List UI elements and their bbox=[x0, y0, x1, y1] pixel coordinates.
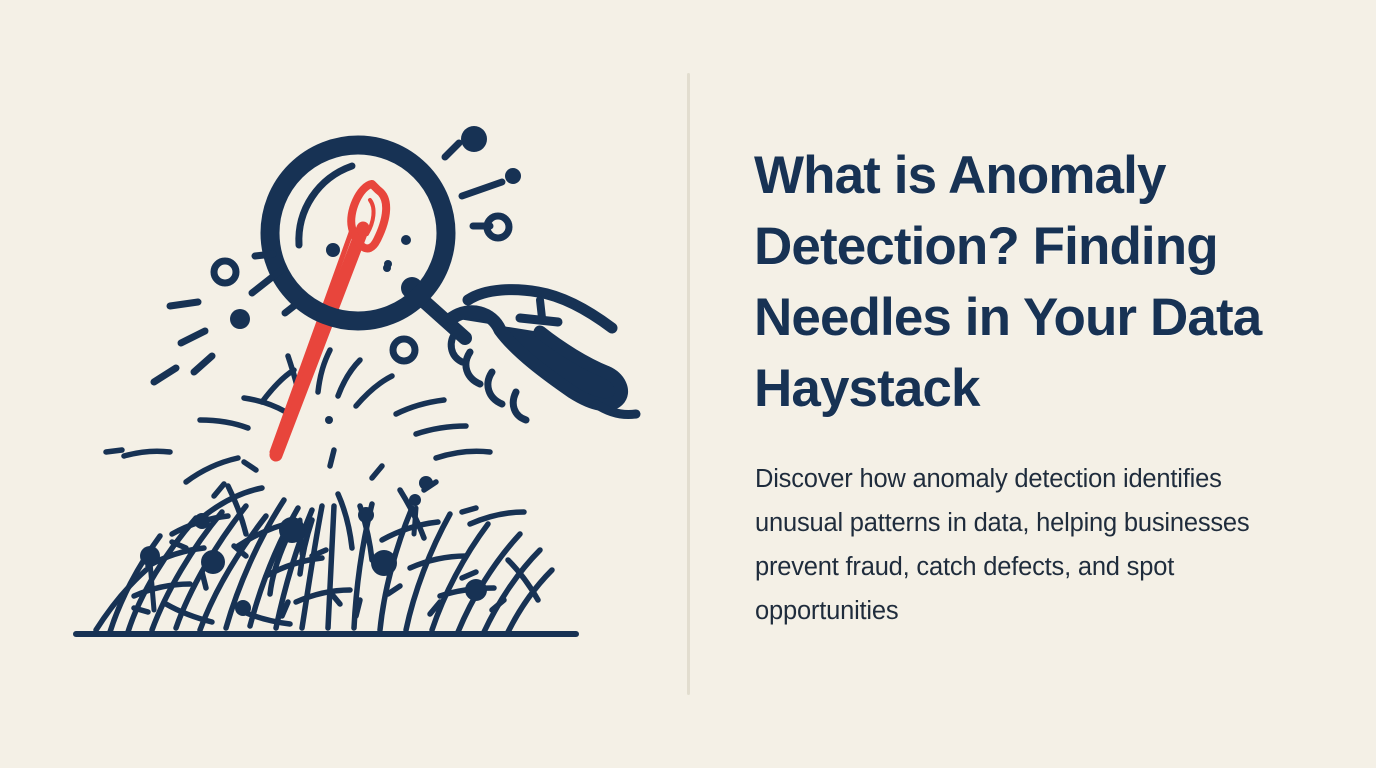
vertical-divider bbox=[687, 73, 690, 695]
magnifying-glass-needle-haystack-illustration bbox=[0, 0, 688, 768]
magnifier-highlight-arc bbox=[299, 166, 352, 245]
hand-holding-handle bbox=[451, 290, 636, 420]
page-subtitle: Discover how anomaly detection identifie… bbox=[755, 457, 1290, 633]
needle-eye bbox=[351, 184, 386, 248]
hero-card: What is Anomaly Detection? Finding Needl… bbox=[0, 0, 1376, 768]
page-title: What is Anomaly Detection? Finding Needl… bbox=[754, 140, 1294, 424]
text-panel: What is Anomaly Detection? Finding Needl… bbox=[754, 0, 1314, 768]
illustration-panel bbox=[0, 0, 688, 768]
